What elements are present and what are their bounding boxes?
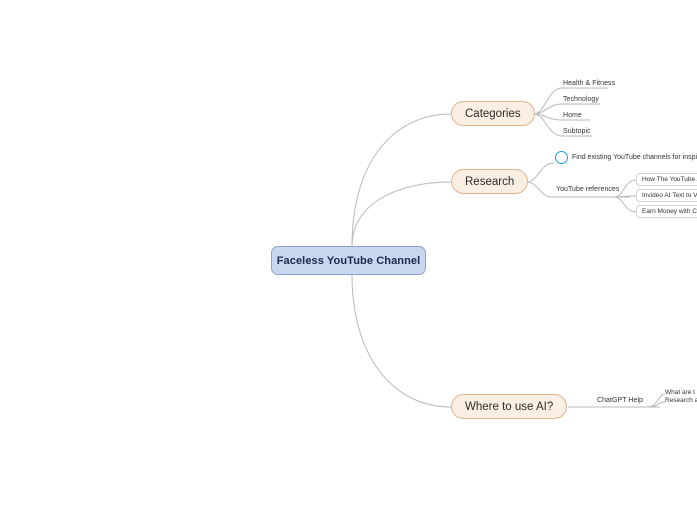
edge-root-categories [352,114,451,246]
leaf-categories-health-fitness[interactable]: Health & Fitness [563,79,615,88]
leaf-categories-home[interactable]: Home [563,111,582,120]
edge-research-ytref [527,182,552,197]
task-circle-icon[interactable] [555,151,568,164]
edge-categories-3 [534,114,562,120]
edge-chatgpt-2 [648,402,665,407]
leaf-whereai-chatgpt-help[interactable]: ChatGPT Help [597,396,643,405]
root-node[interactable]: Faceless YouTube Channel [271,246,426,275]
leaf-label: YouTube references [556,186,619,193]
edge-chatgpt-1 [648,394,665,407]
branch-node-research[interactable]: Research [451,169,528,194]
leaf-label: Subtopic [563,128,591,135]
edge-root-research [352,182,451,246]
leaf-ytref-how-the-youtube[interactable]: How The YouTube A [636,173,697,186]
leaf-label: What are t [665,389,695,396]
branch-node-categories[interactable]: Categories [451,101,535,126]
edge-categories-1 [534,88,562,114]
leaf-label: Health & Fitness [563,80,615,87]
leaf-categories-technology[interactable]: Technology [563,95,599,104]
leaf-label: Home [563,112,582,119]
edge-categories-2 [534,104,562,114]
leaf-label: Technology [563,96,599,103]
leaf-ytref-earn-money[interactable]: Earn Money with Ch [636,205,697,218]
branch-node-where-to-use-ai[interactable]: Where to use AI? [451,394,567,419]
branch-label-research: Research [465,176,514,188]
leaf-chatgpt-research[interactable]: Research a [665,397,697,405]
root-node-label: Faceless YouTube Channel [277,255,421,267]
edge-categories-4 [534,114,562,136]
edge-ytref-2 [614,196,636,197]
leaf-chatgpt-what-are[interactable]: What are t [665,389,695,397]
leaf-label: Earn Money with Ch [642,208,697,215]
leaf-categories-subtopic[interactable]: Subtopic [563,127,591,136]
leaf-label: How The YouTube A [642,176,697,183]
leaf-label: ChatGPT Help [597,397,643,404]
mindmap-canvas[interactable]: Faceless YouTube Channel Categories Heal… [0,0,697,520]
leaf-label: Invideo AI Text to V [642,192,697,199]
edge-research-task [527,163,554,182]
branch-label-where-to-use-ai: Where to use AI? [465,401,553,413]
leaf-label: Research a [665,397,697,404]
edge-root-whereai [352,275,451,407]
leaf-ytref-invideo-ai[interactable]: Invideo AI Text to V [636,189,697,202]
leaf-research-find-channels[interactable]: Find existing YouTube channels for inspi… [555,151,697,164]
leaf-research-youtube-references[interactable]: YouTube references [556,185,619,194]
branch-label-categories: Categories [465,108,521,120]
leaf-label: Find existing YouTube channels for inspi… [572,154,697,161]
edge-ytref-3 [614,197,636,212]
